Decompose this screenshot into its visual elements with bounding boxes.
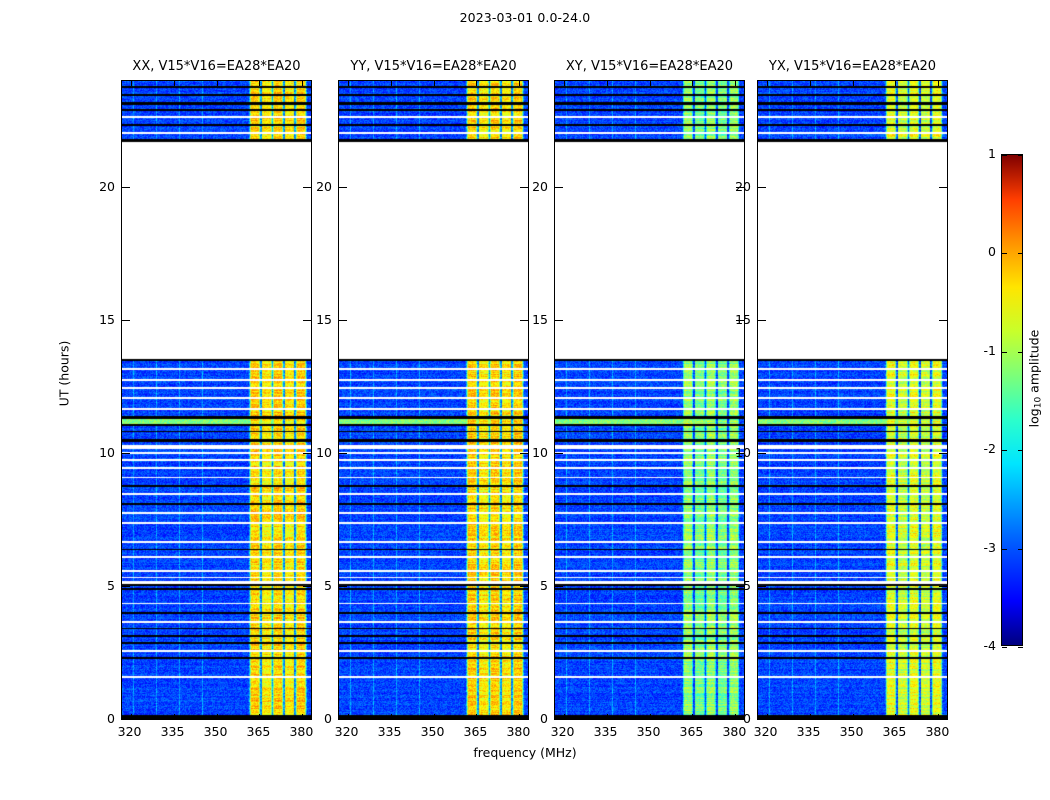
- y-axis-tick: [339, 586, 347, 587]
- x-axis-tick-label: 335: [789, 724, 829, 739]
- x-axis-tick: [519, 81, 520, 86]
- x-axis-tick: [174, 714, 175, 719]
- colorbar-tick-label: 1: [962, 146, 996, 161]
- y-axis-tick: [758, 586, 766, 587]
- y-axis-tick: [758, 320, 766, 321]
- x-axis-tick: [607, 81, 608, 86]
- colorbar-tick: [1018, 450, 1023, 451]
- colorbar-tick: [1002, 450, 1007, 451]
- y-axis-tick-label: 10: [79, 445, 115, 460]
- x-axis-tick: [217, 714, 218, 719]
- y-axis-tick: [555, 320, 563, 321]
- dynamic-spectrum-image: [758, 81, 947, 719]
- y-axis-tick: [758, 719, 766, 720]
- colorbar-tick: [1018, 549, 1023, 550]
- colorbar-tick-label: -3: [962, 540, 996, 555]
- dynamic-spectrum-image: [122, 81, 311, 719]
- x-axis-tick: [391, 81, 392, 86]
- y-axis-tick: [758, 187, 766, 188]
- y-axis-tick-label: 15: [512, 312, 548, 327]
- x-axis-tick: [810, 714, 811, 719]
- x-axis-tick: [131, 81, 132, 86]
- y-axis-tick-label: 20: [79, 179, 115, 194]
- y-axis-tick: [939, 187, 947, 188]
- colorbar-label-subscript: 10: [1034, 397, 1044, 408]
- y-axis-tick: [939, 320, 947, 321]
- dynamic-spectrum-image: [339, 81, 528, 719]
- x-axis-tick-label: 320: [327, 724, 367, 739]
- y-axis-tick-label: 15: [79, 312, 115, 327]
- y-axis-tick-label: 10: [296, 445, 332, 460]
- x-axis-tick: [650, 81, 651, 86]
- x-axis-tick-label: 350: [196, 724, 236, 739]
- x-axis-tick-label: 365: [455, 724, 495, 739]
- y-axis-tick: [339, 187, 347, 188]
- dynamic-spectrum-image: [555, 81, 744, 719]
- dynamic-spectrum-panel-xx[interactable]: [121, 80, 312, 720]
- x-axis-tick: [564, 81, 565, 86]
- y-axis-tick-label: 0: [715, 711, 751, 726]
- panel-title-yx: YX, V15*V16=EA28*EA20: [757, 59, 948, 77]
- panel-title-xy: XY, V15*V16=EA28*EA20: [554, 59, 745, 77]
- y-axis-tick: [339, 320, 347, 321]
- y-axis-tick: [939, 719, 947, 720]
- colorbar-label-pre: log: [1027, 408, 1042, 427]
- colorbar-tick: [1002, 155, 1007, 156]
- x-axis-tick: [391, 714, 392, 719]
- x-axis-tick: [607, 714, 608, 719]
- x-axis-tick: [131, 714, 132, 719]
- x-axis-tick-label: 380: [498, 724, 538, 739]
- x-axis-tick-label: 335: [370, 724, 410, 739]
- x-axis-tick: [735, 81, 736, 86]
- y-axis-tick: [555, 586, 563, 587]
- colorbar-tick: [1002, 352, 1007, 353]
- dynamic-spectrum-panel-yx[interactable]: [757, 80, 948, 720]
- x-axis-tick: [810, 81, 811, 86]
- x-axis-tick: [564, 714, 565, 719]
- y-axis-tick-label: 10: [715, 445, 751, 460]
- y-axis-tick-label: 15: [715, 312, 751, 327]
- dynamic-spectrum-panel-xy[interactable]: [554, 80, 745, 720]
- y-axis-tick: [339, 453, 347, 454]
- x-axis-tick: [348, 81, 349, 86]
- x-axis-tick-label: 320: [110, 724, 150, 739]
- y-axis-tick-label: 20: [512, 179, 548, 194]
- colorbar-label: log10 amplitude: [1027, 299, 1044, 459]
- x-axis-tick-label: 335: [586, 724, 626, 739]
- x-axis-tick: [938, 81, 939, 86]
- x-axis-tick-label: 350: [832, 724, 872, 739]
- colorbar-tick-label: -4: [962, 638, 996, 653]
- x-axis-tick: [434, 714, 435, 719]
- x-axis-tick-label: 320: [746, 724, 786, 739]
- x-axis-tick-label: 350: [629, 724, 669, 739]
- y-axis-tick-label: 10: [512, 445, 548, 460]
- y-axis-tick-label: 5: [79, 578, 115, 593]
- colorbar-tick: [1018, 253, 1023, 254]
- x-axis-tick: [217, 81, 218, 86]
- x-axis-tick: [348, 714, 349, 719]
- colorbar-tick: [1018, 647, 1023, 648]
- y-axis-tick: [122, 187, 130, 188]
- x-axis-tick: [895, 81, 896, 86]
- y-axis-tick-label: 20: [715, 179, 751, 194]
- y-axis-tick-label: 5: [296, 578, 332, 593]
- x-axis-tick: [174, 81, 175, 86]
- panel-title-xx: XX, V15*V16=EA28*EA20: [121, 59, 312, 77]
- colorbar-tick: [1018, 352, 1023, 353]
- x-axis-tick: [434, 81, 435, 86]
- y-axis-tick: [122, 586, 130, 587]
- x-axis-tick: [767, 714, 768, 719]
- colorbar-tick: [1002, 549, 1007, 550]
- x-axis-tick-label: 320: [543, 724, 583, 739]
- y-axis-tick: [122, 320, 130, 321]
- y-axis-tick-label: 0: [296, 711, 332, 726]
- y-axis-tick: [555, 453, 563, 454]
- x-axis-tick: [476, 714, 477, 719]
- x-axis-tick: [302, 81, 303, 86]
- panel-title-yy: YY, V15*V16=EA28*EA20: [338, 59, 529, 77]
- x-axis-tick: [476, 81, 477, 86]
- y-axis-tick: [758, 453, 766, 454]
- figure-suptitle: 2023-03-01 0.0-24.0: [0, 10, 1050, 25]
- y-axis-tick-label: 0: [512, 711, 548, 726]
- y-axis-label: UT (hours): [57, 304, 72, 444]
- y-axis-tick: [122, 719, 130, 720]
- x-axis-tick: [895, 714, 896, 719]
- y-axis-tick: [122, 453, 130, 454]
- x-axis-tick: [692, 714, 693, 719]
- x-axis-tick-label: 350: [413, 724, 453, 739]
- x-axis-tick: [767, 81, 768, 86]
- y-axis-tick: [339, 719, 347, 720]
- x-axis-label: frequency (MHz): [0, 745, 1050, 760]
- y-axis-tick: [555, 719, 563, 720]
- x-axis-tick-label: 365: [874, 724, 914, 739]
- y-axis-tick: [939, 453, 947, 454]
- colorbar-tick: [1002, 253, 1007, 254]
- x-axis-tick-label: 380: [917, 724, 957, 739]
- y-axis-tick-label: 5: [512, 578, 548, 593]
- x-axis-tick: [692, 81, 693, 86]
- y-axis-tick-label: 20: [296, 179, 332, 194]
- colorbar-label-post: amplitude: [1027, 330, 1042, 397]
- x-axis-tick: [650, 714, 651, 719]
- y-axis-tick: [939, 586, 947, 587]
- y-axis-tick-label: 15: [296, 312, 332, 327]
- colorbar-tick-label: -1: [962, 343, 996, 358]
- x-axis-tick: [259, 714, 260, 719]
- colorbar[interactable]: [1001, 154, 1023, 646]
- colorbar-tick: [1018, 155, 1023, 156]
- x-axis-tick-label: 335: [153, 724, 193, 739]
- y-axis-tick: [555, 187, 563, 188]
- colorbar-tick: [1002, 647, 1007, 648]
- y-axis-tick-label: 0: [79, 711, 115, 726]
- x-axis-tick: [853, 714, 854, 719]
- x-axis-tick-label: 365: [671, 724, 711, 739]
- x-axis-tick-label: 380: [281, 724, 321, 739]
- x-axis-tick: [853, 81, 854, 86]
- dynamic-spectrum-panel-yy[interactable]: [338, 80, 529, 720]
- y-axis-tick-label: 5: [715, 578, 751, 593]
- x-axis-tick-label: 365: [238, 724, 278, 739]
- x-axis-tick: [259, 81, 260, 86]
- colorbar-tick-label: 0: [962, 244, 996, 259]
- colorbar-tick-label: -2: [962, 441, 996, 456]
